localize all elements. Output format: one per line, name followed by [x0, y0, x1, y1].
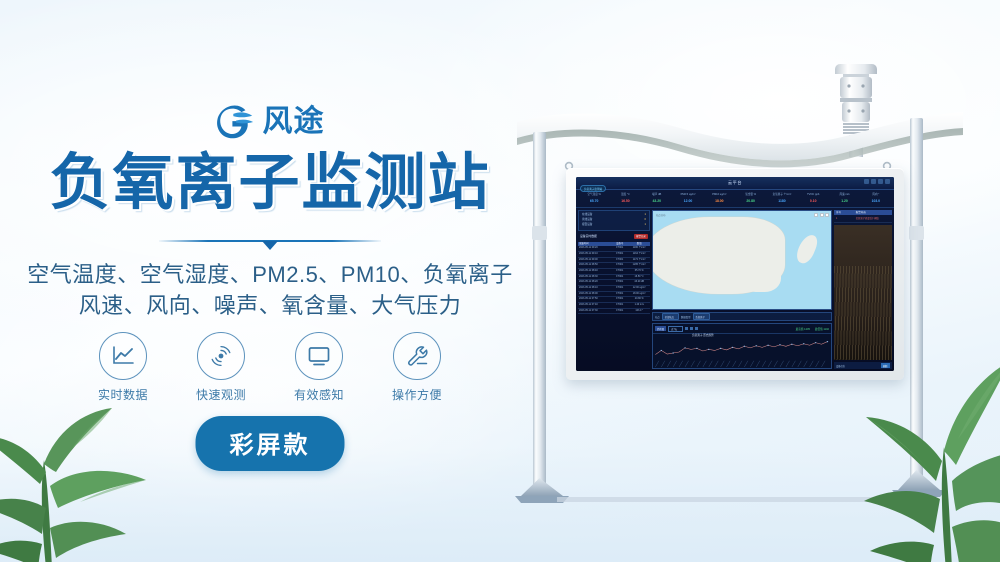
feature-item-effective-sensing: 有效感知 [288, 332, 350, 404]
chart-export-icon[interactable] [695, 327, 698, 330]
floor-mount-base-icon [515, 470, 946, 503]
zoom-in-icon[interactable] [814, 213, 818, 217]
stat-label: 报警设备 [582, 223, 592, 228]
metric-label: 噪声 dB [642, 193, 672, 197]
feature-icon-circle [295, 332, 343, 380]
dashboard-toolbar[interactable] [864, 179, 890, 184]
metric-label: TVOC ppb [798, 193, 828, 197]
map-title: 站点分布 [656, 213, 666, 217]
metric-card: 温度 ℃ 16.50 [610, 191, 640, 207]
map-filter-toolbar: 站点 全部站点 数据类型 负氧离子 [652, 312, 832, 321]
stat-row: 报警设备 1 [582, 223, 646, 228]
metric-label: 温度 ℃ [610, 193, 640, 197]
chart-view-bar-icon[interactable] [685, 327, 688, 330]
live-camera-feed[interactable] [834, 225, 892, 360]
metric-card: 氧含量 % 20.80 [735, 191, 765, 207]
map-controls[interactable] [814, 213, 829, 217]
right-column: 序号 报警内容 1 负氧离子浓度低于阈值 设备在线 刷新 [834, 210, 892, 369]
metric-label: 氧含量 % [735, 193, 765, 197]
online-status-label: 设备在线 [836, 364, 845, 368]
metric-card: 风速 m/s 1.20 [829, 191, 859, 207]
brand-name: 风途 [263, 107, 325, 137]
device-status-box: 在线设备 1 离线设备 0 报警设备 1 [578, 210, 650, 231]
map-landmass-south [735, 252, 781, 291]
metric-card: 空气湿度 % 65.70 [579, 191, 609, 207]
feature-item-fast-observation: 快速观测 [190, 332, 252, 404]
expand-icon[interactable] [878, 179, 883, 184]
metric-card: 负氧离子 个/cm³ 1180 [767, 191, 797, 207]
metric-value: 0.10 [798, 199, 828, 203]
data-table-title: 设备实时数据 [580, 234, 597, 238]
metric-value: 20.80 [735, 199, 765, 203]
trend-chart-plot [653, 337, 831, 368]
user-icon[interactable] [885, 179, 890, 184]
feature-label: 有效感知 [294, 388, 344, 402]
zoom-out-icon[interactable] [820, 213, 824, 217]
metric-value: 1.20 [829, 199, 859, 203]
feature-icon-circle [197, 332, 245, 380]
product-variant-button[interactable]: 彩屏款 [196, 416, 345, 471]
metric-value: 43.20 [642, 199, 672, 203]
alarm-table-header: 序号 报警内容 [834, 210, 892, 215]
fengtu-leaf-g-logo-icon [216, 104, 256, 140]
metric-value: 103.0 [861, 199, 891, 203]
monitor-screen-icon [306, 344, 332, 368]
refresh-button[interactable]: 刷新 [881, 363, 890, 368]
chart-view-line-icon[interactable] [690, 327, 693, 330]
feature-icon-circle [99, 332, 147, 380]
metric-card: PM2.5 ug/m³ 12.00 [673, 191, 703, 207]
metric-value: 12.00 [673, 199, 703, 203]
feature-list: 实时数据 快速观测 有效感知 [0, 332, 540, 404]
metric-label: 风向 ° [861, 193, 891, 197]
feature-label: 实时数据 [98, 388, 148, 402]
title-divider [0, 240, 540, 242]
metric-label: 风速 m/s [829, 193, 859, 197]
display-bezel: 云平台 负氧离子监测站 空气湿度 % 65.70 温度 ℃ 16.50 [566, 168, 904, 380]
page-title: 负氧离子监测站 [0, 150, 540, 216]
dashboard-body: 在线设备 1 离线设备 0 报警设备 1 设备实时数据 [576, 208, 894, 371]
metric-label: PM10 ug/m³ [704, 193, 734, 197]
type-filter-select[interactable]: 负氧离子 [693, 313, 710, 320]
feature-item-easy-operation: 操作方便 [386, 332, 448, 404]
right-panel-footer: 设备在线 刷新 [834, 362, 892, 369]
chart-range-select[interactable]: 近7天 [668, 326, 683, 332]
subtitle-line-2: 风速、风向、噪声、氧含量、大气压力 [0, 290, 540, 321]
chart-legend-min: 最低值 1102 [815, 327, 829, 331]
subtitle-line-1: 空气温度、空气湿度、PM2.5、PM10、负氧离子 [0, 259, 540, 290]
feature-item-realtime-data: 实时数据 [92, 332, 154, 404]
metric-label: PM2.5 ug/m³ [673, 193, 703, 197]
wrench-tool-icon [404, 343, 430, 369]
metric-card: TVOC ppb 0.10 [798, 191, 828, 207]
chart-tag: 趋势图 [655, 326, 666, 331]
left-column: 在线设备 1 离线设备 0 报警设备 1 设备实时数据 [578, 210, 650, 369]
data-table[interactable]: 采集时间 设备号 数值 2023-05-11 09:20 FT001 1180 … [578, 242, 650, 369]
support-post-right-icon [909, 118, 924, 484]
metric-value: 65.70 [579, 199, 609, 203]
trend-chart-card: 趋势图 近7天 最高值 1205 最低值 1102 负氧离子 历史趋势 [652, 323, 832, 369]
chart-legend-max: 最高值 1205 [796, 327, 810, 331]
metric-label: 负氧离子 个/cm³ [767, 193, 797, 197]
column-header: 序号 [834, 210, 854, 215]
metric-card: 噪声 dB 43.20 [642, 191, 672, 207]
metric-label: 空气湿度 % [579, 193, 609, 197]
table-row[interactable]: 2023-05-11 07:30 FT001 103.0 ° [578, 309, 650, 315]
feature-icon-circle [393, 332, 441, 380]
sensor-list-subtitle: 空气温度、空气湿度、PM2.5、PM10、负氧离子 风速、风向、噪声、氧含量、大… [0, 259, 540, 321]
hero-copy-panel: 风途 负氧离子监测站 空气温度、空气湿度、PM2.5、PM10、负氧离子 风速、… [0, 0, 540, 562]
brand-logo: 风途 [0, 104, 540, 140]
feature-label: 快速观测 [196, 388, 246, 402]
dashboard-title: 云平台 [576, 180, 894, 186]
metric-card: 风向 ° 103.0 [861, 191, 891, 207]
trend-chart-header: 趋势图 近7天 最高值 1205 最低值 1102 [653, 324, 831, 334]
settings-icon[interactable] [871, 179, 876, 184]
type-filter-label: 数据类型 [681, 315, 691, 319]
display-screen[interactable]: 云平台 负氧离子监测站 空气湿度 % 65.70 温度 ℃ 16.50 [576, 177, 894, 371]
center-column: 站点分布 站点 全部站点 数据类型 负氧离子 [652, 210, 832, 369]
metric-value: 16.50 [610, 199, 640, 203]
alarm-badge[interactable]: 报警记录 [634, 234, 648, 239]
stat-value: 1 [645, 223, 646, 228]
column-header: 报警内容 [854, 210, 892, 215]
data-table-header: 设备实时数据 报警记录 [578, 233, 650, 240]
dashboard-header: 云平台 负氧离子监测站 [576, 177, 894, 190]
station-chip[interactable]: 负氧离子监测站 [580, 185, 606, 192]
station-filter-label: 站点 [655, 315, 660, 319]
metric-card: PM10 ug/m³ 18.00 [704, 191, 734, 207]
cloud-platform-dashboard: 云平台 负氧离子监测站 空气湿度 % 65.70 温度 ℃ 16.50 [576, 177, 894, 371]
station-filter-select[interactable]: 全部站点 [662, 313, 679, 320]
metric-strip: 空气湿度 % 65.70 温度 ℃ 16.50 噪声 dB 43.20 PM2.… [576, 190, 894, 208]
metric-value: 18.00 [704, 199, 734, 203]
camera-scene [834, 266, 892, 360]
radar-sensor-icon [208, 343, 234, 369]
alarm-table-row[interactable]: 1 负氧离子浓度低于阈值 [834, 217, 892, 223]
station-map[interactable]: 站点分布 [652, 210, 832, 310]
wave-canopy-icon [517, 112, 963, 167]
line-chart-icon [110, 344, 136, 368]
metric-value: 1180 [767, 199, 797, 203]
layers-icon[interactable] [864, 179, 869, 184]
caret-down-icon [262, 241, 278, 250]
feature-label: 操作方便 [392, 388, 442, 402]
fullscreen-icon[interactable] [825, 213, 829, 217]
